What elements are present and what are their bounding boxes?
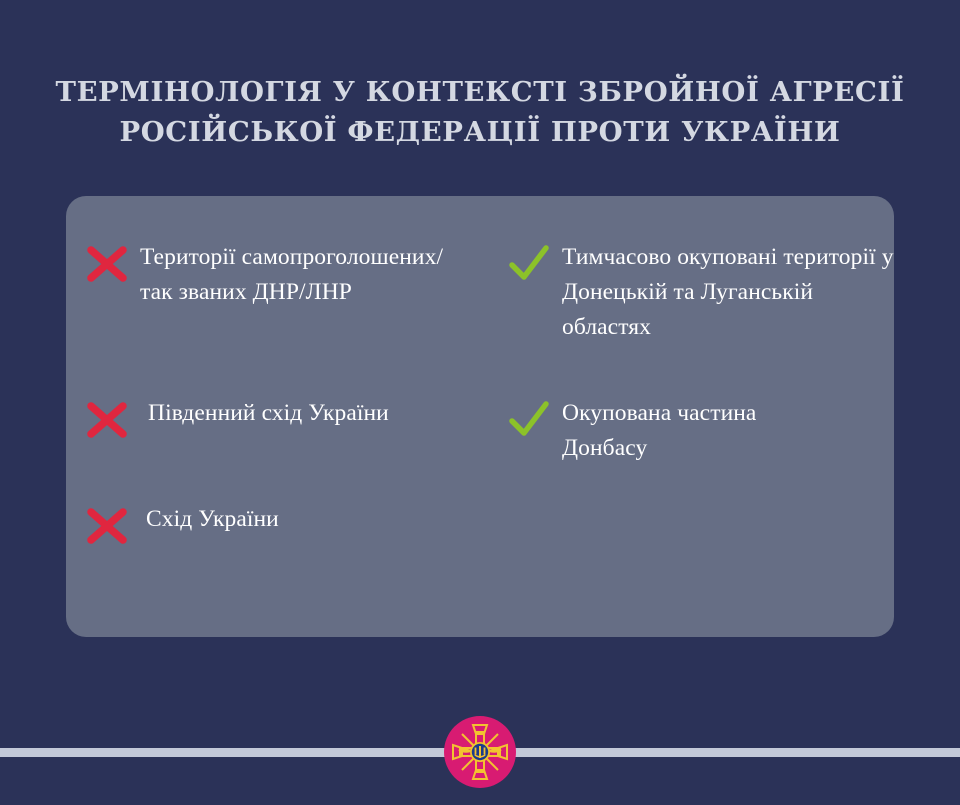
terminology-row: Південний схід України Окупована частина… <box>66 396 894 466</box>
cross-icon <box>84 398 130 442</box>
cross-icon <box>84 504 130 548</box>
general-staff-emblem <box>444 716 516 788</box>
page-title-line-2: РОСІЙСЬКОЇ ФЕДЕРАЦІЇ ПРОТИ УКРАЇНИ <box>0 112 960 152</box>
correct-term-item: Окупована частина Донбасу <box>490 396 894 466</box>
check-icon <box>506 242 552 286</box>
correct-term-item: Тимчасово окуповані території у Донецькі… <box>490 240 894 345</box>
correct-term-label: Тимчасово окуповані території у Донецькі… <box>562 240 894 345</box>
incorrect-term-item: Південний схід України <box>66 396 490 466</box>
incorrect-term-item: Території самопроголошених/так званих ДН… <box>66 240 490 345</box>
incorrect-term-label: Південний схід України <box>148 396 389 431</box>
incorrect-term-label: Схід України <box>146 502 279 537</box>
incorrect-term-label: Території самопроголошених/так званих ДН… <box>140 240 470 310</box>
terminology-rows: Території самопроголошених/так званих ДН… <box>66 196 894 637</box>
terminology-card: Території самопроголошених/так званих ДН… <box>66 196 894 637</box>
incorrect-term-item: Схід України <box>66 502 490 548</box>
cross-icon <box>84 242 130 286</box>
terminology-row: Схід України <box>66 502 894 548</box>
page-title-line-1: ТЕРМІНОЛОГІЯ У КОНТЕКСТІ ЗБРОЙНОЇ АГРЕСІ… <box>0 72 960 112</box>
terminology-row: Території самопроголошених/так званих ДН… <box>66 240 894 345</box>
check-icon <box>506 398 552 442</box>
page-title: ТЕРМІНОЛОГІЯ У КОНТЕКСТІ ЗБРОЙНОЇ АГРЕСІ… <box>0 72 960 152</box>
correct-term-placeholder <box>490 502 894 548</box>
correct-term-label: Окупована частина Донбасу <box>562 396 832 466</box>
